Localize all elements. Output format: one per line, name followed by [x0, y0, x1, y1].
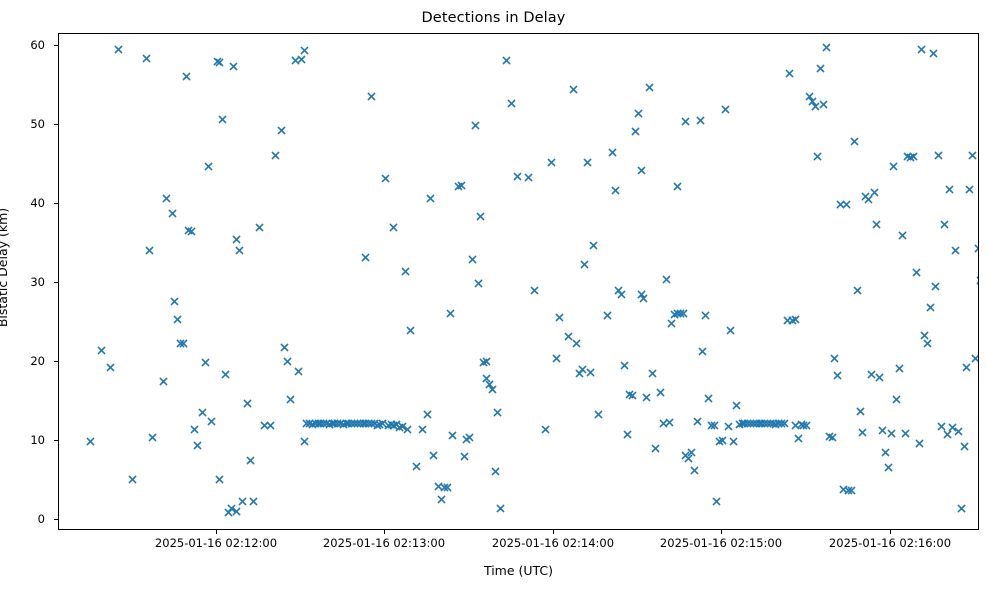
scatter-marker — [780, 419, 789, 428]
scatter-marker — [367, 419, 376, 428]
scatter-marker — [774, 419, 783, 428]
scatter-marker — [721, 105, 730, 114]
scatter-marker — [718, 436, 727, 445]
scatter-marker — [271, 151, 280, 160]
scatter-marker — [339, 420, 348, 429]
x-tick-mark — [384, 530, 385, 534]
scatter-marker — [906, 153, 915, 162]
scatter-marker — [359, 419, 368, 428]
scatter-marker — [297, 55, 306, 64]
scatter-marker — [342, 419, 351, 428]
scatter-marker — [842, 200, 851, 209]
scatter-marker — [771, 420, 780, 429]
scatter-marker — [909, 152, 918, 161]
y-tick-label: 0 — [38, 512, 50, 526]
scatter-marker — [398, 422, 407, 431]
scatter-marker — [965, 185, 974, 194]
scatter-marker — [620, 361, 629, 370]
scatter-marker — [940, 220, 949, 229]
scatter-marker — [673, 182, 682, 191]
scatter-marker — [440, 483, 449, 492]
scatter-marker — [816, 64, 825, 73]
scatter-marker — [170, 297, 179, 306]
scatter-marker — [875, 373, 884, 382]
scatter-marker — [915, 439, 924, 448]
scatter-marker — [785, 69, 794, 78]
scatter-marker — [330, 419, 339, 428]
scatter-marker — [305, 419, 314, 428]
scatter-marker — [763, 419, 772, 428]
scatter-marker — [361, 419, 370, 428]
scatter-marker — [300, 46, 309, 55]
scatter-marker — [392, 420, 401, 429]
scatter-marker — [760, 419, 769, 428]
scatter-marker — [822, 43, 831, 52]
scatter-marker — [903, 152, 912, 161]
scatter-marker — [286, 395, 295, 404]
scatter-marker — [898, 231, 907, 240]
scatter-marker — [732, 401, 741, 410]
scatter-marker — [623, 430, 632, 439]
scatter-marker — [266, 421, 275, 430]
scatter-marker — [755, 419, 764, 428]
scatter-marker — [684, 454, 693, 463]
scatter-marker — [895, 364, 904, 373]
scatter-marker — [552, 354, 561, 363]
scatter-marker — [594, 410, 603, 419]
plot-axes — [58, 33, 979, 530]
scatter-marker — [238, 497, 247, 506]
scatter-marker — [106, 363, 115, 372]
scatter-marker — [698, 347, 707, 356]
scatter-marker — [128, 475, 137, 484]
scatter-marker — [929, 49, 938, 58]
scatter-marker — [507, 99, 516, 108]
scatter-marker — [704, 394, 713, 403]
x-tick-label: 2025-01-16 02:14:00 — [492, 537, 614, 550]
scatter-marker — [976, 276, 978, 285]
scatter-marker — [389, 223, 398, 232]
y-tick-mark — [54, 361, 58, 362]
scatter-marker — [336, 419, 345, 428]
scatter-marker — [97, 346, 106, 355]
scatter-marker — [389, 421, 398, 430]
x-tick-label: 2025-01-16 02:15:00 — [660, 537, 782, 550]
scatter-marker — [712, 497, 721, 506]
scatter-marker — [651, 444, 660, 453]
scatter-marker — [923, 339, 932, 348]
y-tick-label: 30 — [30, 275, 50, 289]
scatter-marker — [412, 462, 421, 471]
scatter-marker — [943, 430, 952, 439]
scatter-marker — [634, 109, 643, 118]
scatter-marker — [631, 127, 640, 136]
scatter-marker — [187, 227, 196, 236]
y-tick-mark — [54, 203, 58, 204]
scatter-marker — [858, 428, 867, 437]
scatter-marker — [603, 311, 612, 320]
y-tick-mark — [54, 519, 58, 520]
scatter-marker — [805, 92, 814, 101]
scatter-marker — [799, 421, 808, 430]
scatter-marker — [724, 422, 733, 431]
scatter-marker — [673, 309, 682, 318]
scatter-marker — [676, 309, 685, 318]
scatter-marker — [808, 97, 817, 106]
scatter-marker — [423, 410, 432, 419]
scatter-marker — [665, 418, 674, 427]
scatter-marker — [951, 246, 960, 255]
scatter-marker — [280, 343, 289, 352]
scatter-marker — [960, 442, 969, 451]
y-tick-label: 10 — [30, 433, 50, 447]
scatter-marker — [934, 151, 943, 160]
scatter-marker — [401, 267, 410, 276]
scatter-marker — [788, 316, 797, 325]
scatter-marker — [190, 425, 199, 434]
scatter-marker — [207, 417, 216, 426]
scatter-marker — [802, 421, 811, 430]
x-tick-mark — [890, 530, 891, 534]
scatter-marker — [176, 339, 185, 348]
y-axis-label: Bistatic Delay (km) — [0, 19, 10, 516]
scatter-marker — [948, 423, 957, 432]
scatter-marker — [474, 279, 483, 288]
scatter-marker — [198, 408, 207, 417]
scatter-marker — [912, 268, 921, 277]
scatter-marker — [726, 326, 735, 335]
scatter-marker — [462, 435, 471, 444]
scatter-marker — [314, 419, 323, 428]
scatter-marker — [302, 419, 311, 428]
scatter-marker — [384, 421, 393, 430]
x-tick-label: 2025-01-16 02:13:00 — [323, 537, 445, 550]
scatter-marker — [836, 200, 845, 209]
scatter-marker — [853, 286, 862, 295]
x-axis-label: Time (UTC) — [58, 563, 979, 578]
scatter-marker — [201, 358, 210, 367]
scatter-marker — [811, 102, 820, 111]
scatter-marker — [418, 425, 427, 434]
scatter-marker — [437, 495, 446, 504]
scatter-marker — [243, 399, 252, 408]
scatter-marker — [193, 441, 202, 450]
scatter-marker — [656, 388, 665, 397]
scatter-marker — [931, 282, 940, 291]
scatter-marker — [690, 466, 699, 475]
scatter-marker — [572, 339, 581, 348]
scatter-marker — [213, 57, 222, 66]
scatter-marker — [224, 508, 233, 517]
scatter-marker — [681, 451, 690, 460]
scatter-marker — [861, 192, 870, 201]
scatter-marker — [448, 431, 457, 440]
scatter-marker — [476, 212, 485, 221]
scatter-marker — [564, 332, 573, 341]
scatter-marker — [920, 331, 929, 340]
scatter-marker — [235, 246, 244, 255]
scatter-marker — [783, 316, 792, 325]
scatter-marker — [850, 137, 859, 146]
scatter-marker — [204, 162, 213, 171]
scatter-marker — [884, 463, 893, 472]
scatter-marker — [954, 427, 963, 436]
scatter-marker — [468, 255, 477, 264]
scatter-marker — [738, 419, 747, 428]
scatter-marker — [162, 194, 171, 203]
scatter-marker — [569, 85, 578, 94]
scatter-marker — [291, 56, 300, 65]
scatter-marker — [541, 425, 550, 434]
scatter-marker — [839, 485, 848, 494]
x-tick-label: 2025-01-16 02:12:00 — [155, 537, 277, 550]
scatter-marker — [844, 486, 853, 495]
scatter-marker — [794, 434, 803, 443]
scatter-marker — [701, 311, 710, 320]
scatter-marker — [746, 419, 755, 428]
scatter-marker — [221, 370, 230, 379]
scatter-marker — [460, 452, 469, 461]
scatter-marker — [277, 126, 286, 135]
scatter-marker — [575, 369, 584, 378]
scatter-marker — [828, 433, 837, 442]
scatter-marker — [901, 429, 910, 438]
scatter-marker — [645, 83, 654, 92]
scatter-marker — [406, 326, 415, 335]
scatter-marker — [693, 417, 702, 426]
scatter-marker — [465, 433, 474, 442]
scatter-marker — [530, 286, 539, 295]
scatter-marker — [586, 368, 595, 377]
scatter-marker — [373, 421, 382, 430]
scatter-marker — [830, 354, 839, 363]
scatter-marker — [322, 419, 331, 428]
scatter-marker — [260, 421, 269, 430]
scatter-marker — [482, 374, 491, 383]
scatter-marker — [493, 408, 502, 417]
scatter-marker — [319, 419, 328, 428]
scatter-marker — [625, 390, 634, 399]
y-tick-label: 50 — [30, 117, 50, 131]
y-tick-label: 20 — [30, 354, 50, 368]
scatter-marker — [215, 58, 224, 67]
scatter-marker — [937, 422, 946, 431]
scatter-marker — [578, 365, 587, 374]
scatter-marker — [350, 419, 359, 428]
scatter-marker — [246, 456, 255, 465]
scatter-marker — [232, 235, 241, 244]
scatter-marker — [479, 358, 488, 367]
scatter-marker — [710, 421, 719, 430]
scatter-marker — [555, 313, 564, 322]
y-tick-mark — [54, 124, 58, 125]
scatter-marker — [333, 419, 342, 428]
scatter-marker — [639, 294, 648, 303]
scatter-marker — [679, 309, 688, 318]
scatter-marker — [580, 260, 589, 269]
scatter-marker — [361, 253, 370, 262]
scatter-marker — [86, 437, 95, 446]
scatter-marker — [356, 419, 365, 428]
scatter-marker — [611, 186, 620, 195]
scatter-marker — [148, 433, 157, 442]
scatter-marker — [378, 419, 387, 428]
y-tick-label: 40 — [30, 196, 50, 210]
scatter-marker — [325, 420, 334, 429]
scatter-marker — [819, 100, 828, 109]
scatter-marker — [443, 483, 452, 492]
scatter-marker — [328, 419, 337, 428]
scatter-marker — [957, 504, 966, 513]
scatter-marker — [249, 497, 258, 506]
scatter-marker — [403, 425, 412, 434]
scatter-marker — [856, 407, 865, 416]
scatter-marker — [881, 448, 890, 457]
scatter-marker — [878, 426, 887, 435]
scatter-marker — [926, 303, 935, 312]
scatter-marker — [142, 54, 151, 63]
scatter-marker — [367, 92, 376, 101]
x-tick-mark — [721, 530, 722, 534]
scatter-marker — [347, 419, 356, 428]
scatter-marker — [889, 162, 898, 171]
scatter-marker — [294, 367, 303, 376]
scatter-marker — [283, 357, 292, 366]
scatter-marker — [659, 419, 668, 428]
scatter-marker — [777, 419, 786, 428]
scatter-marker — [387, 420, 396, 429]
scatter-marker — [974, 244, 978, 253]
scatter-marker — [583, 158, 592, 167]
scatter-marker — [353, 419, 362, 428]
scatter-marker — [457, 181, 466, 190]
scatter-marker — [218, 115, 227, 124]
scatter-marker — [791, 315, 800, 324]
scatter-marker — [471, 121, 480, 130]
scatter-marker — [833, 371, 842, 380]
scatter-marker — [227, 504, 236, 513]
scatter-marker — [429, 451, 438, 460]
scatter-marker — [316, 419, 325, 428]
scatter-marker — [917, 45, 926, 54]
scatter-marker — [491, 467, 500, 476]
scatter-marker — [766, 419, 775, 428]
scatter-marker — [311, 419, 320, 428]
scatter-marker — [547, 158, 556, 167]
x-tick-label: 2025-01-16 02:16:00 — [829, 537, 951, 550]
scatter-marker — [502, 56, 511, 65]
scatter-marker — [813, 152, 822, 161]
scatter-marker — [867, 370, 876, 379]
scatter-marker — [513, 172, 522, 181]
scatter-marker — [681, 117, 690, 126]
scatter-marker — [364, 419, 373, 428]
scatter-marker — [496, 504, 505, 513]
y-tick-mark — [54, 282, 58, 283]
scatter-marker — [968, 151, 977, 160]
scatter-marker — [370, 419, 379, 428]
scatter-marker — [769, 419, 778, 428]
scatter-marker — [729, 437, 738, 446]
scatter-marker — [344, 419, 353, 428]
scatter-marker — [887, 429, 896, 438]
scatter-marker — [485, 380, 494, 389]
scatter-marker — [617, 290, 626, 299]
scatter-marker — [825, 432, 834, 441]
scatter-marker — [892, 395, 901, 404]
scatter-marker — [454, 182, 463, 191]
x-tick-mark — [216, 530, 217, 534]
scatter-marker — [791, 421, 800, 430]
scatter-marker — [395, 423, 404, 432]
scatter-marker — [308, 420, 317, 429]
scatter-marker — [637, 290, 646, 299]
scatter-marker — [743, 419, 752, 428]
scatter-marker — [971, 354, 978, 363]
scatter-marker — [255, 223, 264, 232]
scatter-marker — [707, 421, 716, 430]
scatter-marker — [215, 475, 224, 484]
scatter-marker — [434, 482, 443, 491]
scatter-marker — [426, 194, 435, 203]
scatter-marker — [114, 45, 123, 54]
scatter-marker — [182, 72, 191, 81]
scatter-marker — [168, 209, 177, 218]
scatter-marker — [749, 419, 758, 428]
y-tick-mark — [54, 440, 58, 441]
scatter-marker — [870, 188, 879, 197]
scatter-marker — [872, 220, 881, 229]
scatter-marker — [482, 357, 491, 366]
scatter-marker — [173, 315, 182, 324]
scatter-marker — [179, 339, 188, 348]
scatter-marker — [735, 420, 744, 429]
scatter-marker — [637, 166, 646, 175]
scatter-marker — [614, 286, 623, 295]
scatter-marker — [642, 393, 651, 402]
scatter-marker — [797, 420, 806, 429]
x-tick-mark — [553, 530, 554, 534]
matplotlib-figure: Detections in Delay Bistatic Delay (km) … — [0, 0, 987, 590]
scatter-points-layer — [59, 34, 978, 529]
y-tick-mark — [54, 45, 58, 46]
scatter-marker — [962, 363, 971, 372]
scatter-marker — [381, 174, 390, 183]
scatter-marker — [667, 319, 676, 328]
scatter-marker — [740, 419, 749, 428]
scatter-marker — [662, 275, 671, 284]
scatter-marker — [145, 246, 154, 255]
scatter-marker — [446, 309, 455, 318]
chart-title: Detections in Delay — [0, 10, 987, 26]
scatter-marker — [715, 437, 724, 446]
scatter-marker — [752, 419, 761, 428]
scatter-marker — [300, 437, 309, 446]
scatter-marker — [628, 391, 637, 400]
scatter-marker — [229, 62, 238, 71]
scatter-marker — [184, 226, 193, 235]
y-tick-label: 60 — [30, 38, 50, 52]
scatter-marker — [648, 369, 657, 378]
scatter-marker — [687, 448, 696, 457]
scatter-marker — [670, 310, 679, 319]
scatter-marker — [589, 241, 598, 250]
scatter-marker — [524, 173, 533, 182]
scatter-marker — [608, 148, 617, 157]
scatter-marker — [945, 185, 954, 194]
scatter-marker — [864, 195, 873, 204]
scatter-marker — [847, 486, 856, 495]
